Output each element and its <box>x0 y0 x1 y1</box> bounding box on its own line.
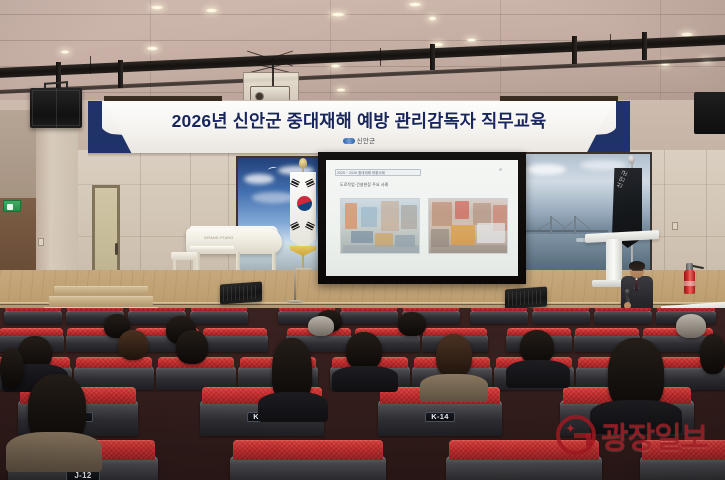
microphone-stand-base <box>286 300 304 303</box>
rig-cable <box>610 34 611 50</box>
ceiling-downlight <box>146 46 159 51</box>
slide-header-text: 2025 ~ 2026 중대재해 현황사례 <box>337 170 385 175</box>
door-handle[interactable] <box>115 243 118 255</box>
ceiling-downlight <box>150 5 164 10</box>
audience-seating-area: K-12 K-13 K-14 K-15 J-12 <box>0 308 725 480</box>
ceiling-downlight <box>428 16 437 21</box>
seat-cushion <box>449 440 599 460</box>
presenter-glasses-icon <box>632 268 643 271</box>
exit-sign-icon <box>3 200 21 212</box>
attendee-shoulders <box>590 400 682 434</box>
piano-brand-label: GRAND PIANO <box>204 236 234 240</box>
auditorium-photo: 2026년 신안군 중대재해 예방 관리감독자 직무교육 신안군 <box>0 0 725 480</box>
truss-post <box>572 36 577 64</box>
attendee-shoulders <box>420 374 488 402</box>
slide-photo-right <box>428 198 508 254</box>
ceiling-downlight <box>336 88 346 92</box>
attendee-head <box>176 330 208 364</box>
slide-photo-left <box>340 198 420 254</box>
truss-post <box>118 60 123 88</box>
seat-k-14[interactable]: K-14 <box>378 400 502 436</box>
attendee-head <box>0 348 24 388</box>
wall-speaker-right <box>694 92 725 134</box>
fire-extinguisher-label <box>684 281 695 286</box>
seat-row-j-item[interactable] <box>640 456 725 480</box>
flag-finial-icon <box>299 158 307 168</box>
grand-piano <box>186 228 282 254</box>
attendee-head <box>520 330 554 364</box>
seat-row-j-item[interactable] <box>230 456 386 480</box>
seat-cushion <box>642 440 725 460</box>
ceiling-downlight <box>205 8 218 13</box>
banner-organization-line: 신안군 <box>88 135 630 145</box>
county-flag-finial-icon <box>628 155 635 164</box>
presenter-tie <box>635 280 638 291</box>
wall-outlet-icon <box>38 238 44 246</box>
bird-icon <box>268 166 278 172</box>
attendee-shoulders <box>258 392 328 422</box>
slide-subheading: 도로작업·건설현장 주요 사례 <box>340 183 388 188</box>
wall-outlet-icon <box>672 222 678 230</box>
ceiling-downlight <box>60 50 70 54</box>
piano-keyboard <box>190 246 234 250</box>
seat-number-plate: K-14 <box>425 412 455 422</box>
attendee-shoulders <box>6 432 102 472</box>
microphone-head-icon <box>625 289 630 294</box>
attendee-head <box>118 330 148 360</box>
stage-monitor-speaker-right <box>505 287 547 310</box>
attendee-shoulders <box>506 360 570 388</box>
truss-post <box>642 32 647 60</box>
ceiling-downlight <box>466 38 477 42</box>
attendee-head <box>346 332 382 370</box>
banner-organization-label: 신안군 <box>357 138 376 145</box>
attendee-head <box>700 334 725 374</box>
truss-post <box>430 44 435 70</box>
stage-monitor-speaker-left <box>220 282 262 305</box>
ceiling-downlight <box>330 64 341 68</box>
taeguk-symbol-icon <box>297 196 312 211</box>
rig-cable <box>380 48 381 66</box>
ceiling-downlight <box>408 2 422 7</box>
shinan-county-logo-icon <box>343 138 355 144</box>
microphone-stand <box>294 268 296 302</box>
attendee-shoulders <box>332 366 398 392</box>
seat-cushion <box>233 440 383 460</box>
wall-speaker-left <box>30 88 82 128</box>
ceiling-downlight <box>330 12 346 17</box>
seat-row-j-item[interactable] <box>446 456 602 480</box>
banner-title: 2026년 신안군 중대재해 예방 관리감독자 직무교육 <box>88 108 630 133</box>
projection-screen[interactable]: 2025 ~ 2026 중대재해 현황사례 도로작업·건설현장 주요 사례 <box>326 160 518 276</box>
attendee-head <box>436 334 472 378</box>
event-banner: 2026년 신안군 중대재해 예방 관리감독자 직무교육 신안군 <box>88 101 630 153</box>
rig-cable <box>90 56 91 74</box>
attendee-head <box>676 314 706 338</box>
attendee-head <box>398 312 426 336</box>
attendee-head <box>308 316 334 336</box>
slide-marker-dot <box>499 168 502 171</box>
